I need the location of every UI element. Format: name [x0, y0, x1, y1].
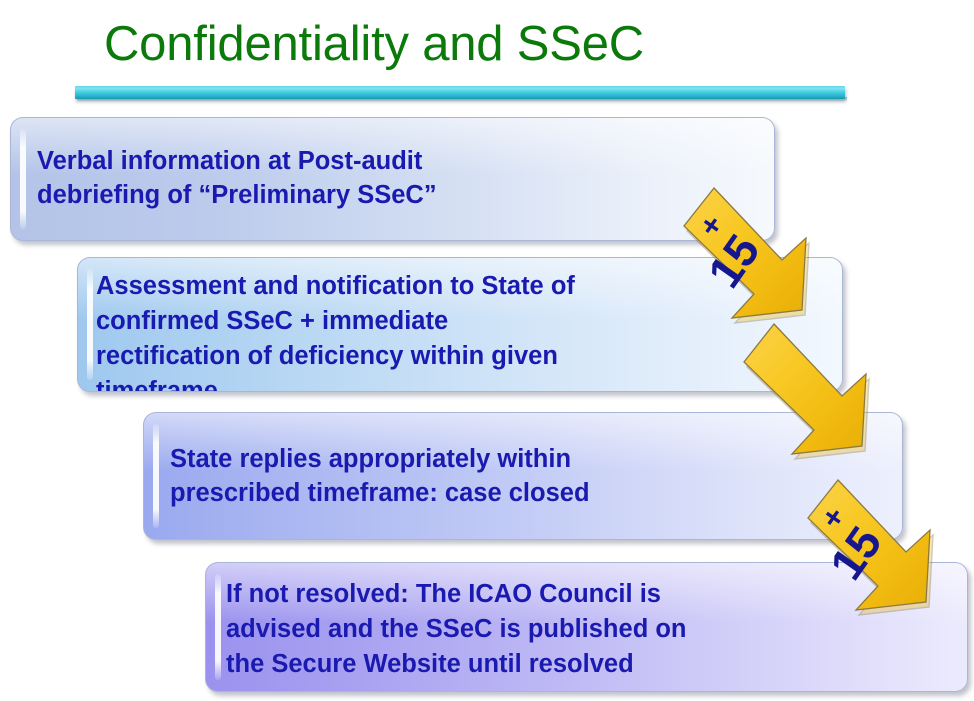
page-title: Confidentiality and SSeC — [104, 14, 744, 76]
box-edge-highlight — [20, 129, 26, 229]
process-box-4-text: If not resolved: The ICAO Council is adv… — [226, 577, 936, 682]
process-box-1-text: Verbal information at Post-audit debrief… — [37, 144, 737, 212]
process-box-1[interactable]: Verbal information at Post-audit debrief… — [10, 117, 775, 241]
title-underline-fill — [75, 86, 845, 99]
process-box-4[interactable]: If not resolved: The ICAO Council is adv… — [205, 562, 968, 692]
title-underline-bar — [75, 86, 847, 103]
box-edge-highlight — [153, 424, 159, 528]
process-box-2-text: Assessment and notification to State of … — [96, 269, 796, 392]
slide-canvas: Confidentiality and SSeC Verbal informat… — [0, 0, 974, 701]
process-box-3-text: State replies appropriately within presc… — [170, 442, 870, 510]
box-edge-highlight — [215, 574, 221, 680]
box-edge-highlight — [87, 269, 93, 380]
process-box-2[interactable]: Assessment and notification to State of … — [77, 257, 843, 392]
